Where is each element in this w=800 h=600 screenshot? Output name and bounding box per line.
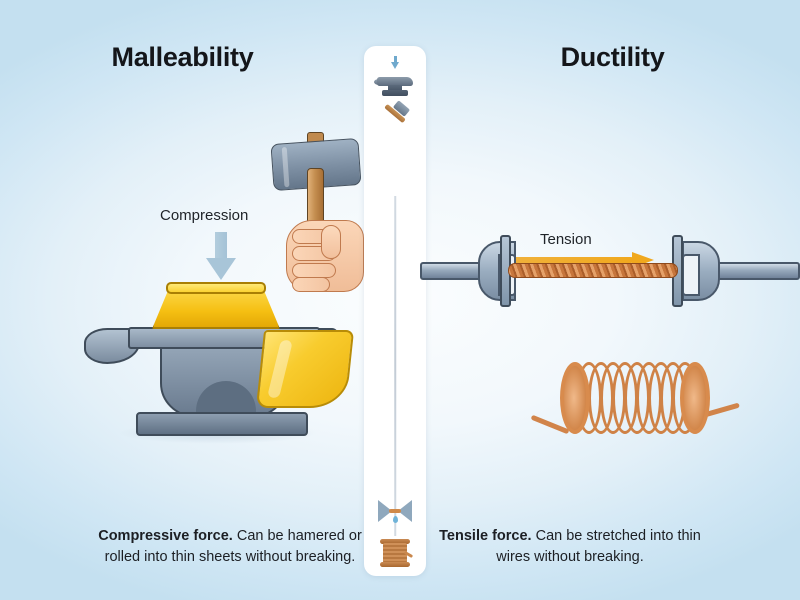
gold-ingot-top bbox=[166, 282, 266, 294]
tensile-rod-left bbox=[420, 262, 486, 280]
clamp-right-icon bbox=[682, 241, 720, 301]
page-title-malleability: Malleability bbox=[0, 42, 365, 73]
anvil-illustration bbox=[88, 272, 353, 452]
caption-malleability: Compressive force. Can be hamered or rol… bbox=[95, 526, 365, 568]
caption-malleability-bold: Compressive force. bbox=[98, 528, 233, 544]
gold-sheet-icon bbox=[256, 330, 354, 408]
caption-ductility-bold: Tensile force. bbox=[439, 528, 531, 544]
caption-ductility: Tensile force. Can be stretched into thi… bbox=[435, 526, 705, 568]
compression-label: Compression bbox=[160, 207, 248, 224]
wire-spool-icon bbox=[380, 538, 410, 568]
hammer-in-hand-illustration bbox=[258, 128, 373, 288]
hammer-icon bbox=[379, 102, 411, 134]
copper-wire-icon bbox=[508, 263, 678, 278]
center-divider-panel bbox=[364, 46, 426, 576]
anvil-compression-icon bbox=[375, 56, 415, 97]
divider-line bbox=[394, 196, 396, 536]
clamp-tension-icon bbox=[378, 500, 412, 524]
infographic-stage: Malleability Ductility Compression bbox=[0, 0, 800, 600]
tension-label: Tension bbox=[540, 231, 592, 248]
page-title-ductility: Ductility bbox=[425, 42, 800, 73]
tensile-rod-right bbox=[718, 262, 800, 280]
anvil-base bbox=[136, 412, 308, 436]
copper-coil-icon bbox=[560, 360, 710, 438]
